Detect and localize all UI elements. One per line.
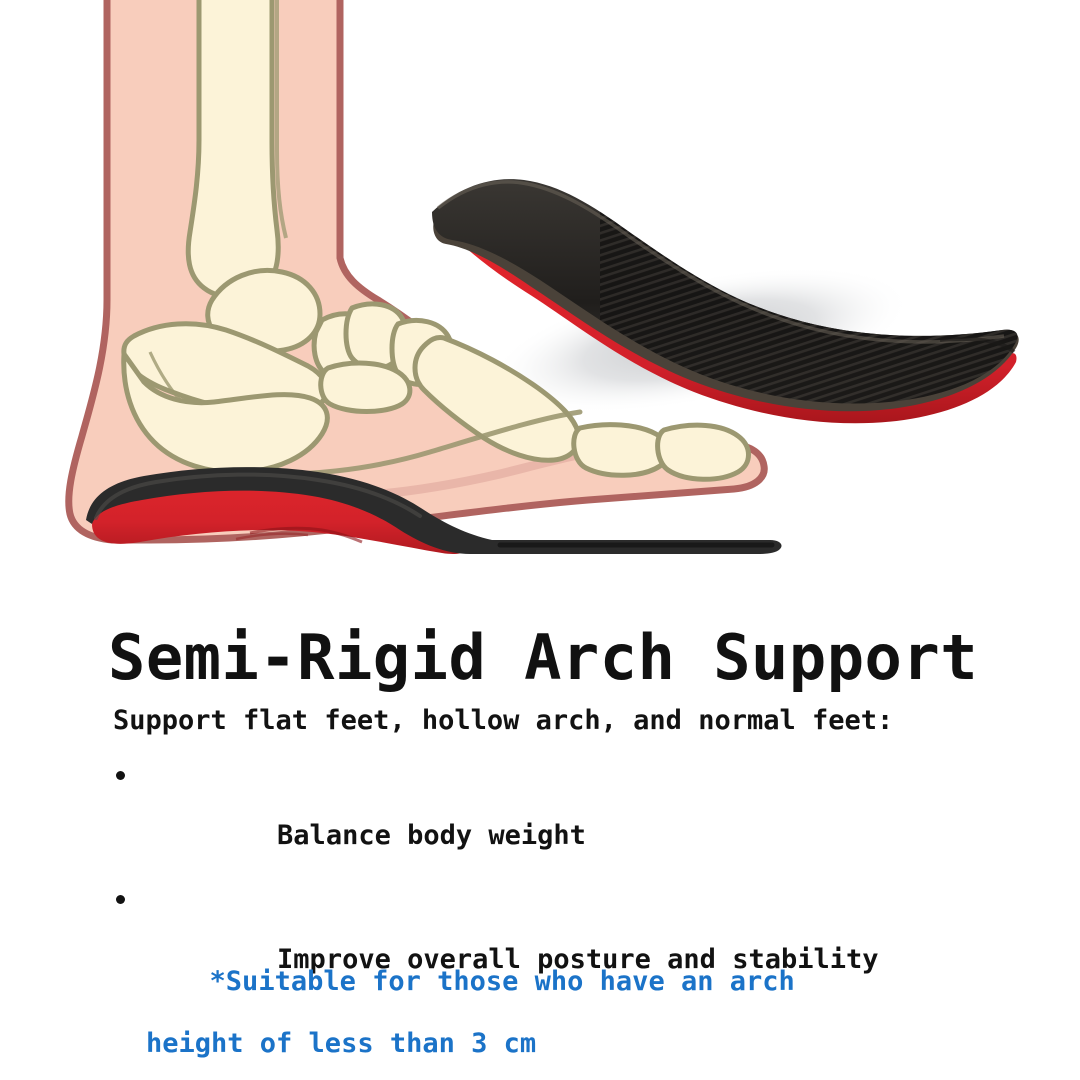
bone-phalanx-distal xyxy=(658,425,749,479)
bone-cuboid xyxy=(321,363,410,411)
bullet-icon xyxy=(116,771,125,780)
bone-phalanx-proximal xyxy=(574,425,668,476)
bone-tibia xyxy=(188,0,278,298)
page-title: Semi-Rigid Arch Support xyxy=(108,620,978,696)
benefit-label: Balance body weight xyxy=(277,820,586,851)
product-info-card: Semi-Rigid Arch Support Support flat fee… xyxy=(0,0,1080,1080)
bullet-icon xyxy=(116,895,125,904)
list-item: Balance body weight xyxy=(113,758,879,882)
foot-anatomy-illustration xyxy=(0,0,1080,600)
footnote: *Suitable for those who have an arch hei… xyxy=(112,935,795,1080)
footnote-line-1: *Suitable for those who have an arch xyxy=(210,966,795,997)
footnote-line-2: height of less than 3 cm xyxy=(112,1028,795,1059)
subtitle: Support flat feet, hollow arch, and norm… xyxy=(113,704,893,738)
